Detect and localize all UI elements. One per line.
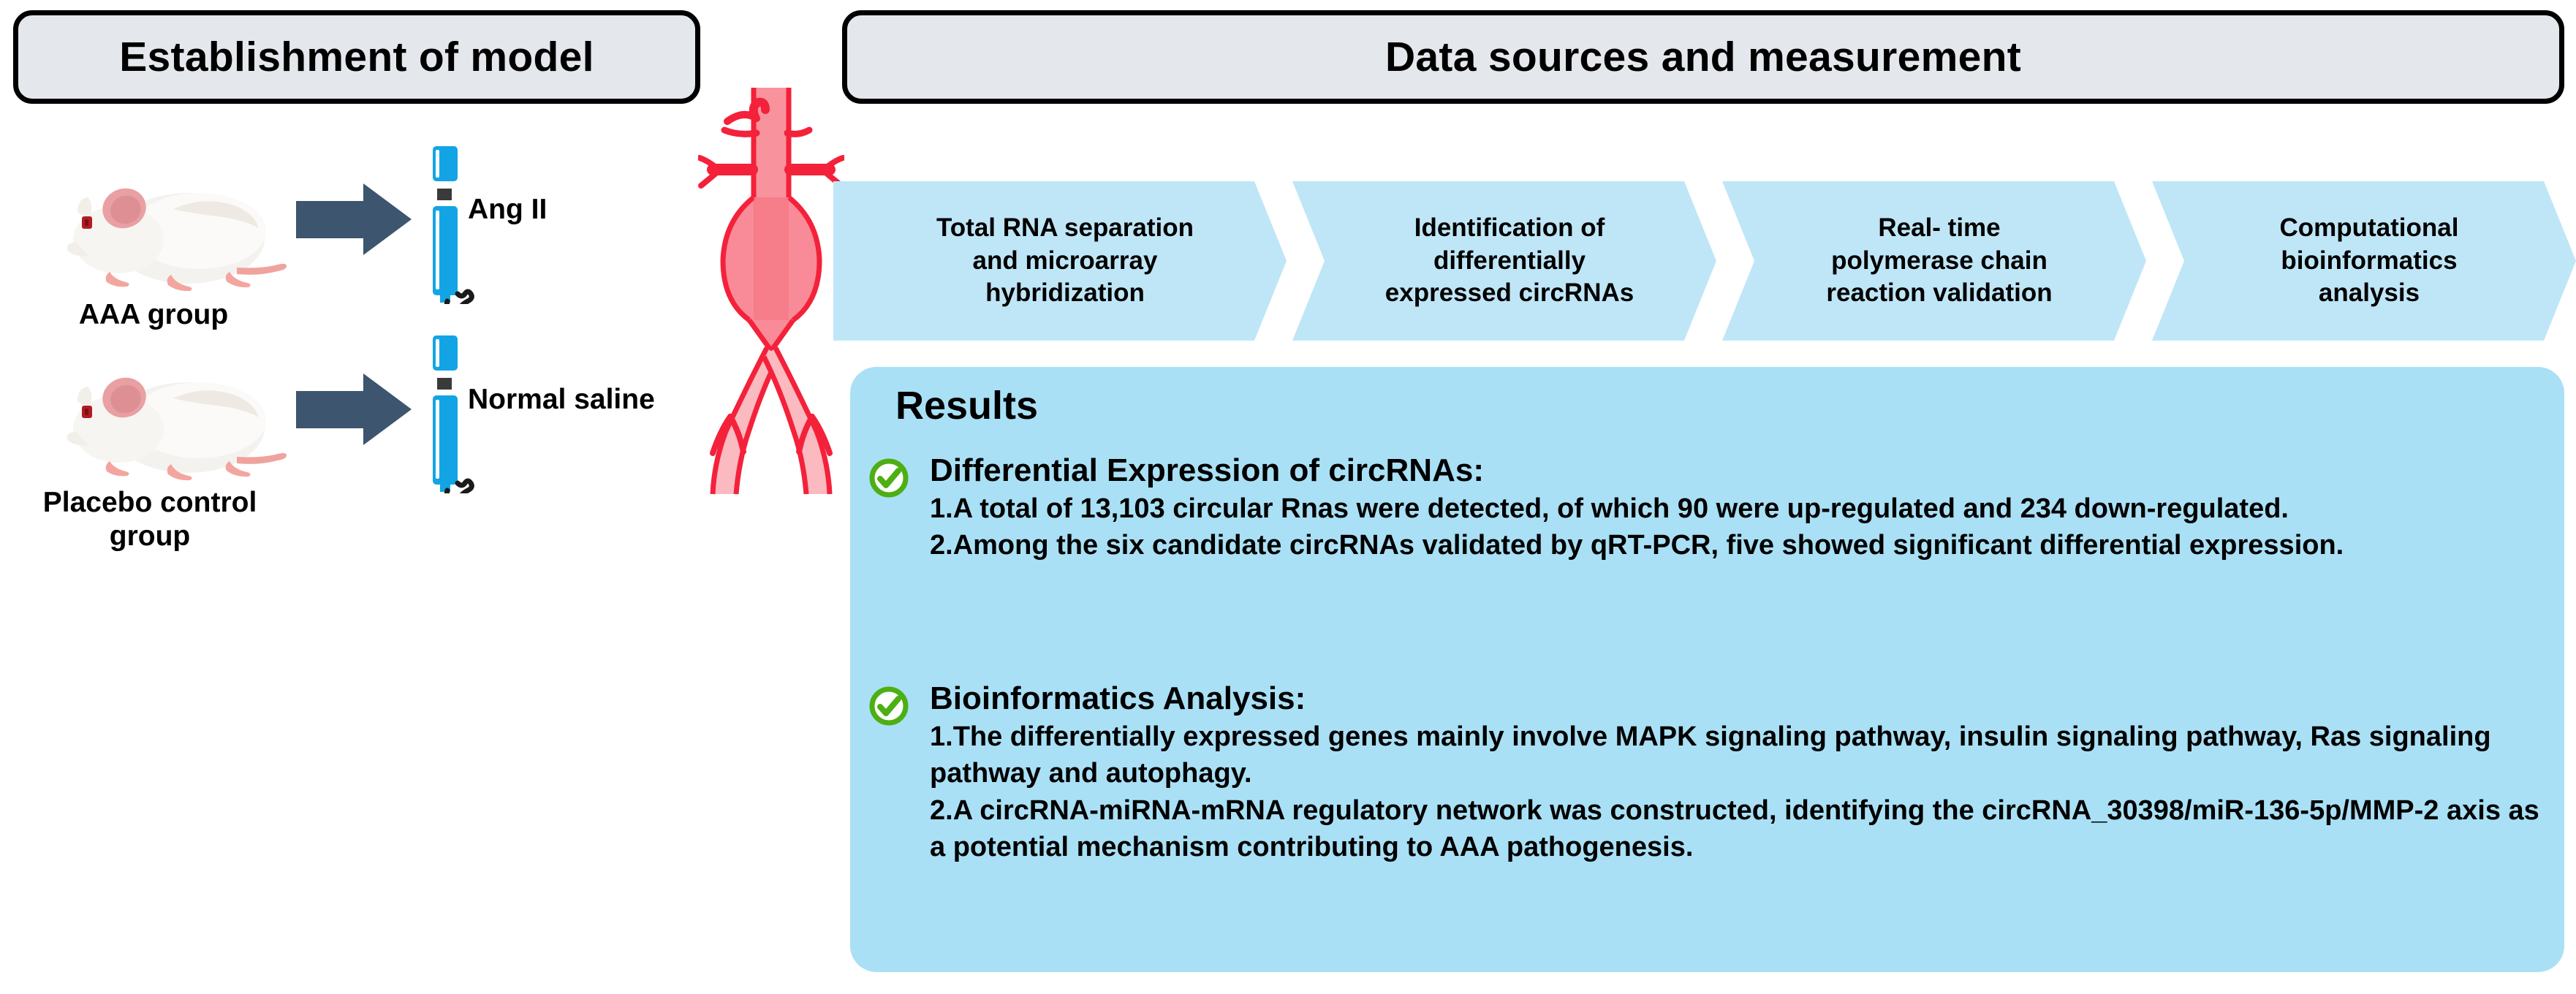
- result-heading-1: Bioinformatics Analysis:: [930, 681, 2550, 716]
- result-line-0-1: 2.Among the six candidate circRNAs valid…: [930, 527, 2550, 564]
- pump-label-ang2: Ang II: [468, 194, 547, 226]
- workflow-step-1-label: Total RNA separation and microarray hybr…: [888, 212, 1232, 310]
- workflow-step-2[interactable]: Identification of differentially express…: [1292, 181, 1716, 341]
- result-line-0-0: 1.A total of 13,103 circular Rnas were d…: [930, 490, 2550, 528]
- mouse-illustration-placebo-group: [45, 356, 287, 487]
- result-block-differential-expression: Differential Expression of circRNAs: 1.A…: [868, 453, 2550, 564]
- right-arrow-icon: [296, 371, 413, 448]
- results-title: Results: [895, 383, 1038, 428]
- banner-establishment-of-model: Establishment of model: [13, 10, 700, 104]
- mouse-illustration-aaa-group: [45, 167, 287, 298]
- process-arrow-icon: [296, 181, 413, 262]
- banner-right-text: Data sources and measurement: [1385, 33, 2021, 81]
- abdominal-aorta-icon: [698, 88, 844, 497]
- workflow-step-4[interactable]: Computational bioinformatics analysis: [2152, 181, 2576, 341]
- workflow-step-3-label: Real- time polymerase chain reaction val…: [1778, 212, 2090, 310]
- pump-label-normal-saline: Normal saline: [468, 384, 655, 416]
- workflow-step-2-label: Identification of differentially express…: [1337, 212, 1672, 310]
- workflow-step-4-label: Computational bioinformatics analysis: [2232, 212, 2497, 310]
- process-arrow-icon: [296, 371, 413, 452]
- result-heading-0: Differential Expression of circRNAs:: [930, 453, 2550, 488]
- workflow-step-1[interactable]: Total RNA separation and microarray hybr…: [833, 181, 1287, 341]
- check-circle-icon: [868, 458, 909, 498]
- mouse-icon: [45, 167, 287, 298]
- group-label-aaa: AAA group: [15, 298, 292, 332]
- workflow-chevron-flow: Total RNA separation and microarray hybr…: [833, 181, 2576, 341]
- banner-data-sources-and-measurement: Data sources and measurement: [842, 10, 2564, 104]
- result-line-1-1: 2.A circRNA-miRNA-mRNA regulatory networ…: [930, 792, 2550, 866]
- check-circle-icon: [868, 686, 909, 726]
- results-card: Results Differential Expression of circR…: [850, 367, 2564, 972]
- aorta-aneurysm-illustration: [698, 88, 844, 501]
- result-block-bioinformatics-analysis: Bioinformatics Analysis: 1.The different…: [868, 681, 2550, 866]
- right-arrow-icon: [296, 181, 413, 258]
- group-label-placebo-control: Placebo control group: [11, 486, 289, 553]
- result-line-1-0: 1.The differentially expressed genes mai…: [930, 718, 2550, 792]
- workflow-step-3[interactable]: Real- time polymerase chain reaction val…: [1722, 181, 2146, 341]
- banner-left-text: Establishment of model: [119, 33, 594, 81]
- mouse-icon: [45, 356, 287, 487]
